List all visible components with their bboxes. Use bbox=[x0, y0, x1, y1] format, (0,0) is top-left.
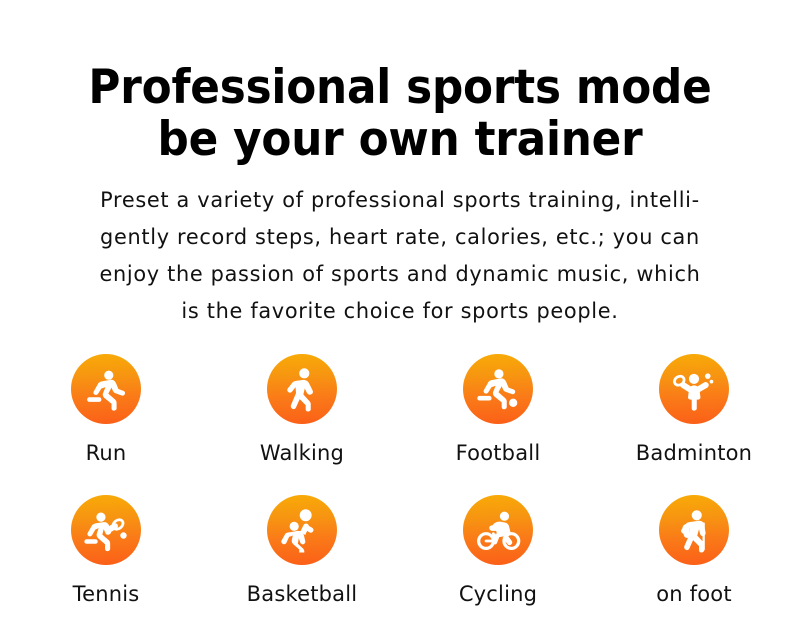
sport-badge-badminton bbox=[659, 354, 729, 424]
basketball-icon bbox=[279, 507, 325, 553]
sport-badge-walking bbox=[267, 354, 337, 424]
sport-item-walking[interactable]: Walking bbox=[204, 354, 400, 495]
sport-item-cycling[interactable]: Cycling bbox=[400, 495, 596, 636]
football-icon bbox=[475, 366, 521, 412]
running-icon bbox=[83, 366, 129, 412]
tennis-icon bbox=[83, 507, 129, 553]
sport-label-on-foot: on foot bbox=[656, 582, 732, 606]
sport-item-run[interactable]: Run bbox=[8, 354, 204, 495]
sport-label-basketball: Basketball bbox=[247, 582, 358, 606]
promo-page: Professional sports mode be your own tra… bbox=[0, 0, 800, 620]
sport-badge-tennis bbox=[71, 495, 141, 565]
headline-line-1: Professional sports mode bbox=[47, 62, 754, 114]
sport-label-walking: Walking bbox=[260, 441, 344, 465]
sport-item-tennis[interactable]: Tennis bbox=[8, 495, 204, 636]
sport-label-tennis: Tennis bbox=[73, 582, 140, 606]
sport-item-basketball[interactable]: Basketball bbox=[204, 495, 400, 636]
sport-label-run: Run bbox=[86, 441, 127, 465]
headline-line-2: be your own trainer bbox=[47, 114, 754, 166]
sport-badge-basketball bbox=[267, 495, 337, 565]
sport-item-on-foot[interactable]: on foot bbox=[596, 495, 792, 636]
sport-label-cycling: Cycling bbox=[459, 582, 537, 606]
description-line-4: is the favorite choice for sports people… bbox=[45, 293, 755, 330]
sport-badge-on-foot bbox=[659, 495, 729, 565]
walking-icon bbox=[279, 366, 325, 412]
description-line-1: Preset a variety of professional sports … bbox=[45, 182, 755, 219]
page-title: Professional sports mode be your own tra… bbox=[0, 0, 800, 166]
description-paragraph: Preset a variety of professional sports … bbox=[0, 182, 800, 330]
cycling-icon bbox=[475, 507, 521, 553]
sports-mode-grid: Run Walking Football bbox=[0, 354, 800, 636]
sport-badge-football bbox=[463, 354, 533, 424]
badminton-icon bbox=[671, 366, 717, 412]
sport-item-badminton[interactable]: Badminton bbox=[596, 354, 792, 495]
sport-item-football[interactable]: Football bbox=[400, 354, 596, 495]
sport-label-badminton: Badminton bbox=[636, 441, 752, 465]
hiking-icon bbox=[671, 507, 717, 553]
sport-label-football: Football bbox=[456, 441, 541, 465]
description-line-3: enjoy the passion of sports and dynamic … bbox=[45, 256, 755, 293]
sport-badge-run bbox=[71, 354, 141, 424]
sport-badge-cycling bbox=[463, 495, 533, 565]
description-line-2: gently record steps, heart rate, calorie… bbox=[45, 219, 755, 256]
